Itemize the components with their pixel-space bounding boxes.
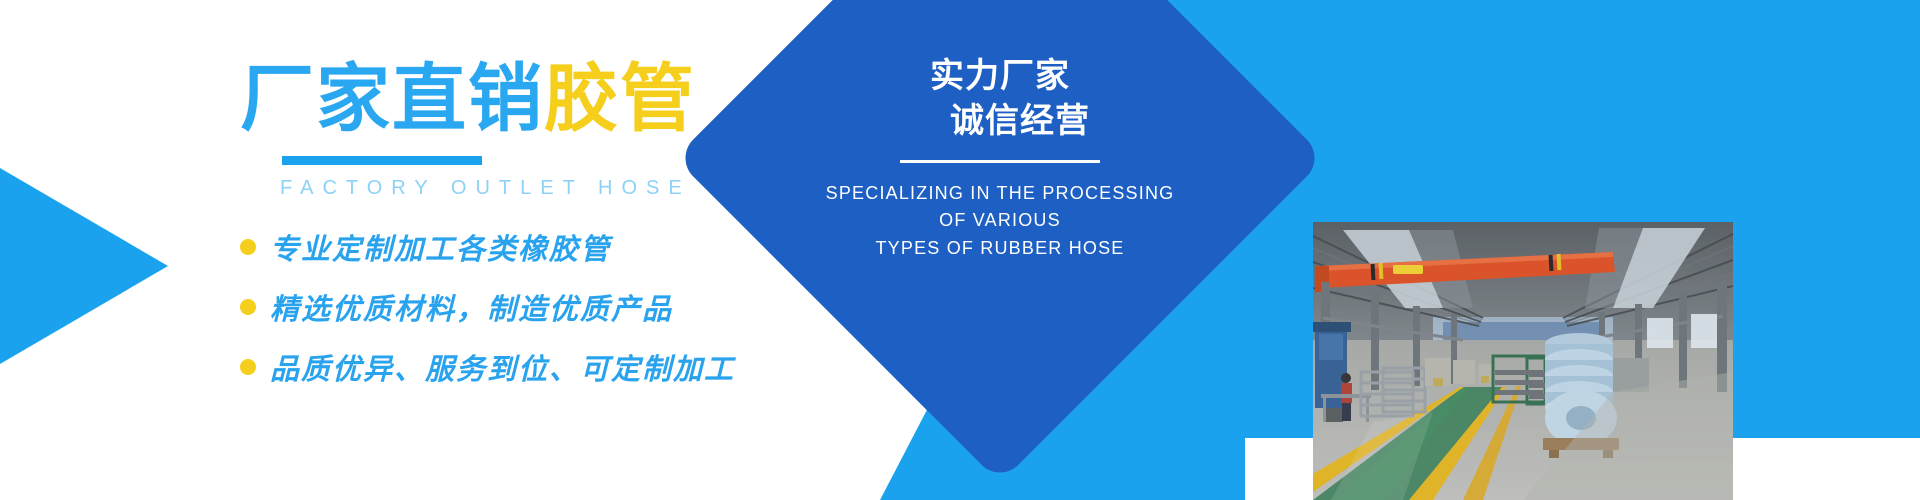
headline-accent-text: 胶管 [544,57,696,140]
diamond-content: 实力厂家 诚信经营 SPECIALIZING IN THE PROCESSING… [770,0,1230,388]
factory-photo [1313,222,1733,500]
feature-text: 精选优质材料，制造优质产品 [270,286,673,328]
diamond-divider [900,160,1100,163]
diamond-chinese-slogan: 实力厂家 诚信经营 [910,54,1090,145]
diamond-en-line-1: SPECIALIZING IN THE PROCESSING [826,180,1175,207]
feature-text: 品质优异、服务到位、可定制加工 [270,346,735,388]
headline-main-text: 厂家直销 [240,57,544,140]
bullet-dot-icon [240,359,256,375]
diamond-english-slogan: SPECIALIZING IN THE PROCESSING OF VARIOU… [826,180,1175,262]
headline-divider [282,156,482,165]
diamond-en-line-3: TYPES OF RUBBER HOSE [826,235,1175,262]
diamond-badge: 实力厂家 诚信经营 SPECIALIZING IN THE PROCESSING… [770,0,1230,388]
promo-banner: 厂家直销胶管 FACTORY OUTLET HOSE 专业定制加工各类橡胶管 精… [0,0,1920,500]
bullet-dot-icon [240,299,256,315]
bullet-dot-icon [240,239,256,255]
feature-text: 专业定制加工各类橡胶管 [270,226,611,268]
factory-photo-illustration [1313,222,1733,500]
background-left-arrow-shape [0,168,168,364]
diamond-cn-line-2: 诚信经营 [910,99,1090,145]
diamond-en-line-2: OF VARIOUS [826,207,1175,234]
diamond-cn-line-1: 实力厂家 [930,57,1070,95]
